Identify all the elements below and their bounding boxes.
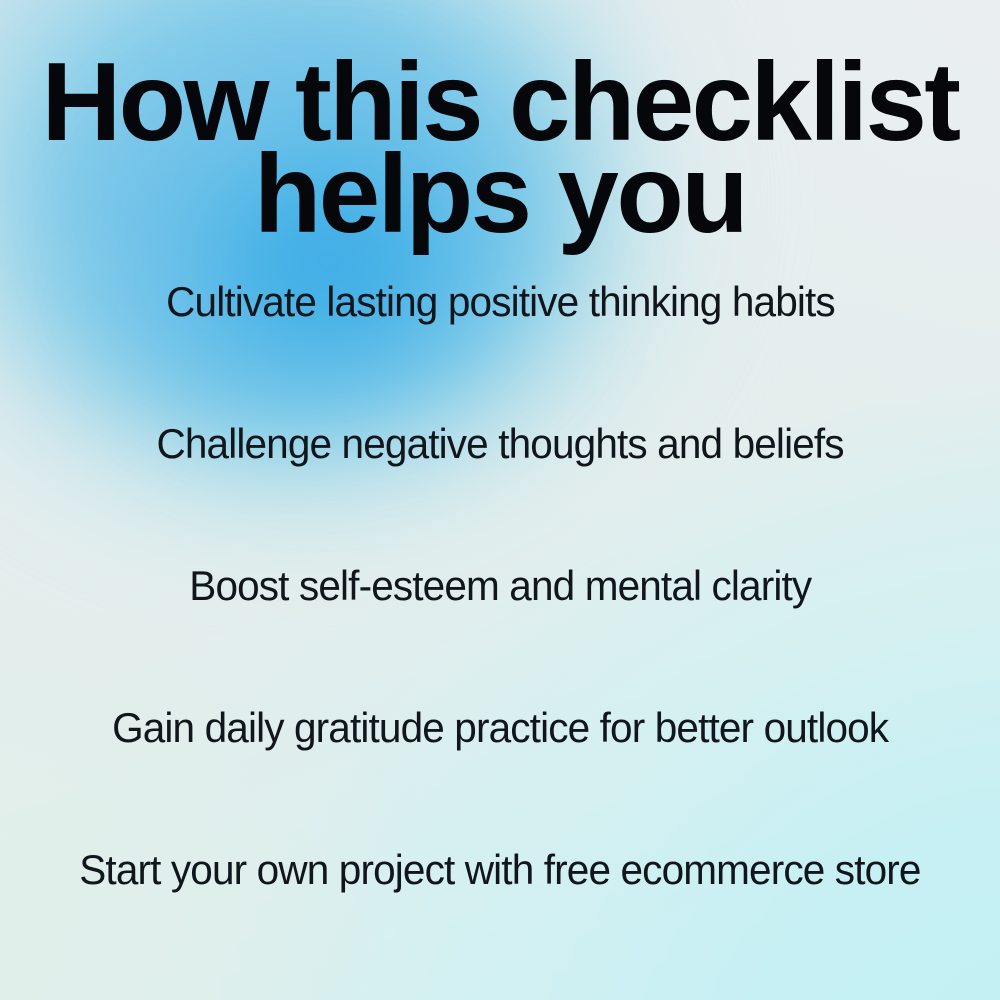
benefit-label: Boost self-esteem and mental clarity — [189, 565, 811, 607]
page-title: How this checklist helps you — [3, 0, 998, 240]
list-item: Gain daily gratitude practice for better… — [0, 707, 1000, 849]
poster-canvas: How this checklist helps you Cultivate l… — [0, 0, 1000, 1000]
benefit-label: Start your own project with free ecommer… — [79, 849, 920, 891]
list-item: Challenge negative thoughts and beliefs — [0, 423, 1000, 565]
benefits-list: Cultivate lasting positive thinking habi… — [0, 281, 1000, 991]
benefit-label: Challenge negative thoughts and beliefs — [156, 423, 843, 465]
list-item: Start your own project with free ecommer… — [0, 849, 1000, 991]
poster-content: How this checklist helps you Cultivate l… — [0, 0, 1000, 1000]
list-item: Boost self-esteem and mental clarity — [0, 565, 1000, 707]
benefit-label: Cultivate lasting positive thinking habi… — [166, 281, 835, 323]
benefit-label: Gain daily gratitude practice for better… — [112, 707, 888, 749]
list-item: Cultivate lasting positive thinking habi… — [0, 281, 1000, 423]
